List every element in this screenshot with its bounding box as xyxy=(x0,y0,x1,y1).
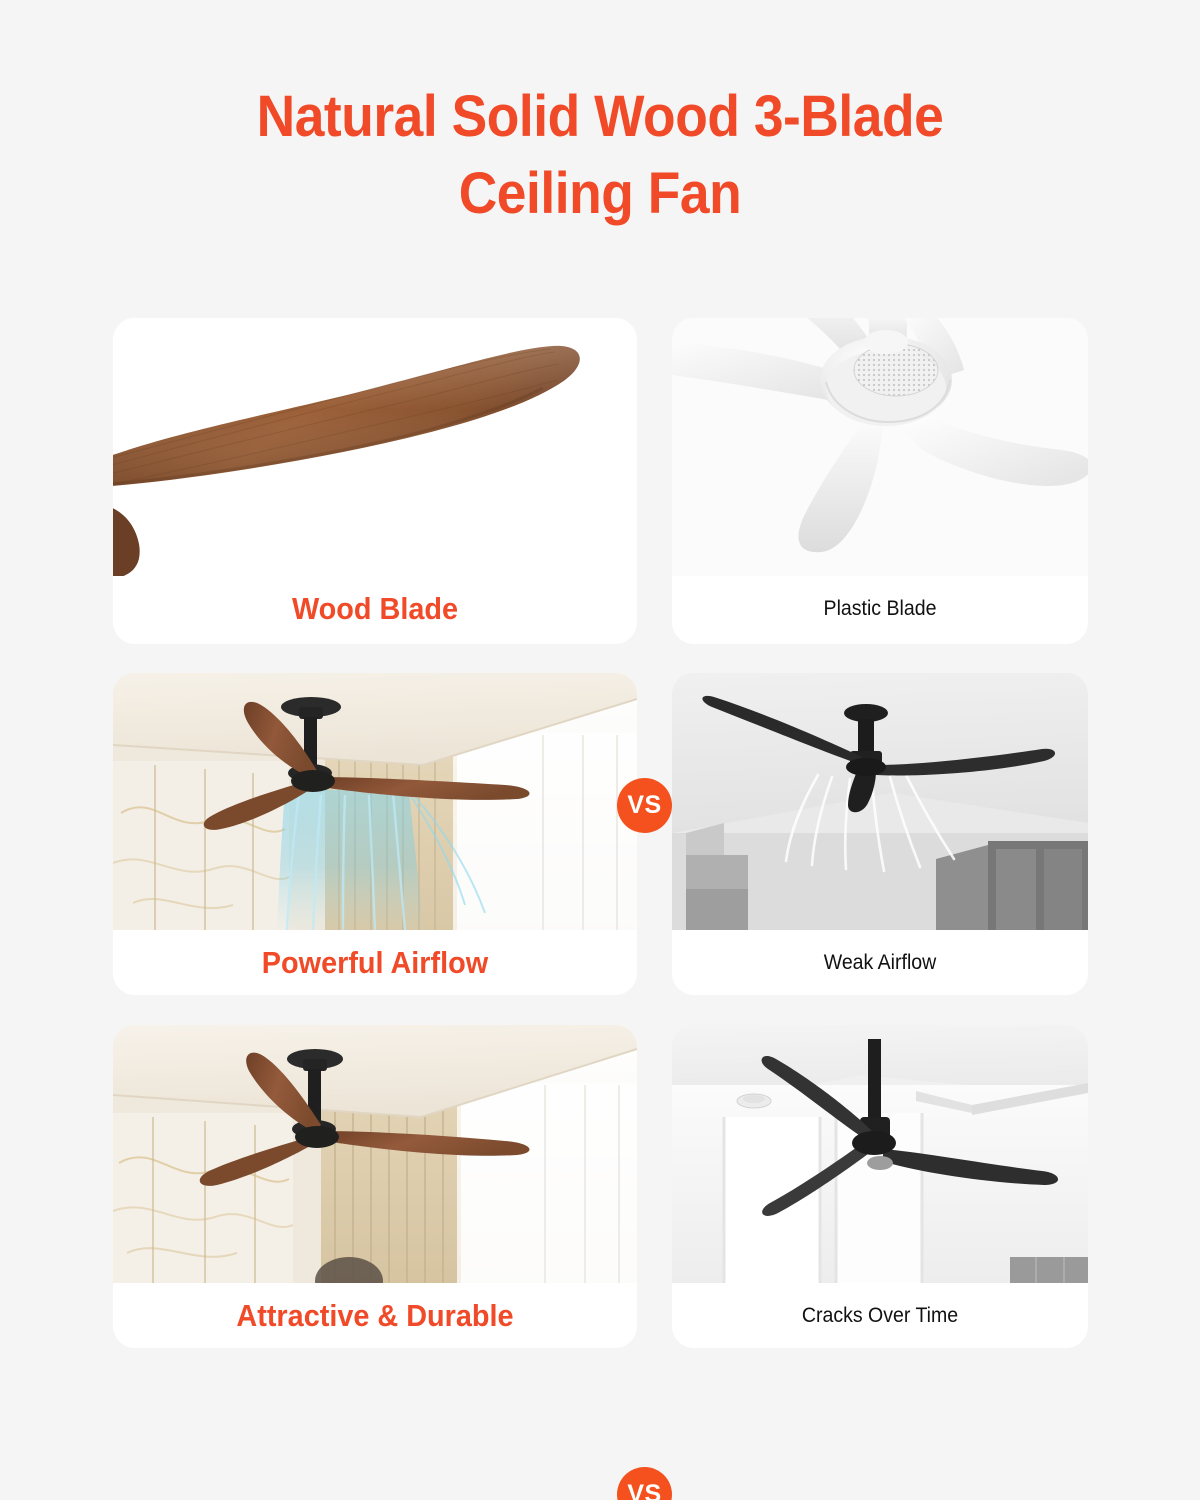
powerful-airflow-photo xyxy=(113,673,637,930)
comparison-card-bad-weak-airflow: Weak Airflow xyxy=(672,673,1088,995)
comparison-card-good-wood-blade: Wood Blade xyxy=(113,318,637,644)
fan-hub-badge xyxy=(867,1156,893,1170)
fan-downrod xyxy=(868,1039,881,1121)
weak-airflow-photo xyxy=(672,673,1088,930)
plastic-blade-photo xyxy=(672,318,1088,576)
vs-badge-blade-material: VS xyxy=(617,778,672,833)
caption-cracks-over-time: Cracks Over Time xyxy=(672,1283,1088,1348)
black-fan-plain-room-illustration xyxy=(672,1025,1088,1283)
comparison-card-good-powerful-airflow: Powerful Airflow xyxy=(113,673,637,995)
wood-fan-interior-illustration xyxy=(113,1025,637,1283)
caption-plastic-blade: Plastic Blade xyxy=(672,576,1088,644)
vs-badge-airflow: VS xyxy=(617,1467,672,1500)
marble-wall-panels xyxy=(113,1113,293,1283)
comparison-card-good-attractive-durable: Attractive & Durable xyxy=(113,1025,637,1348)
comparison-card-bad-cracks-over-time: Cracks Over Time xyxy=(672,1025,1088,1348)
page-title-line-2: Ceiling Fan xyxy=(48,155,1152,232)
wood-blade-illustration xyxy=(113,318,637,576)
caption-wood-blade: Wood Blade xyxy=(113,576,637,644)
product-comparison-infographic: Natural Solid Wood 3-Blade Ceiling Fan xyxy=(0,0,1200,1500)
caption-powerful-airflow: Powerful Airflow xyxy=(113,930,637,995)
comparison-card-bad-plastic-blade: Plastic Blade xyxy=(672,318,1088,644)
smoke-detector xyxy=(737,1094,771,1108)
attractive-durable-photo xyxy=(113,1025,637,1283)
marble-wall-panels xyxy=(113,761,289,930)
page-title: Natural Solid Wood 3-Blade Ceiling Fan xyxy=(48,78,1152,232)
curtain xyxy=(321,1095,461,1283)
wood-fan-airflow-illustration xyxy=(113,673,637,930)
comparison-row-durability: Attractive & Durable xyxy=(0,1025,1200,1348)
page-title-line-1: Natural Solid Wood 3-Blade xyxy=(48,78,1152,155)
plastic-fan-illustration xyxy=(672,318,1088,576)
black-fan-weak-airflow-illustration xyxy=(672,673,1088,930)
caption-attractive-durable: Attractive & Durable xyxy=(113,1283,637,1348)
comparison-row-airflow: Powerful Airflow xyxy=(0,673,1200,995)
wood-blade-photo xyxy=(113,318,637,576)
cracks-over-time-photo xyxy=(672,1025,1088,1283)
fan-downrod xyxy=(858,719,874,753)
caption-weak-airflow: Weak Airflow xyxy=(672,930,1088,995)
comparison-row-blade-material: Wood Blade xyxy=(0,318,1200,644)
